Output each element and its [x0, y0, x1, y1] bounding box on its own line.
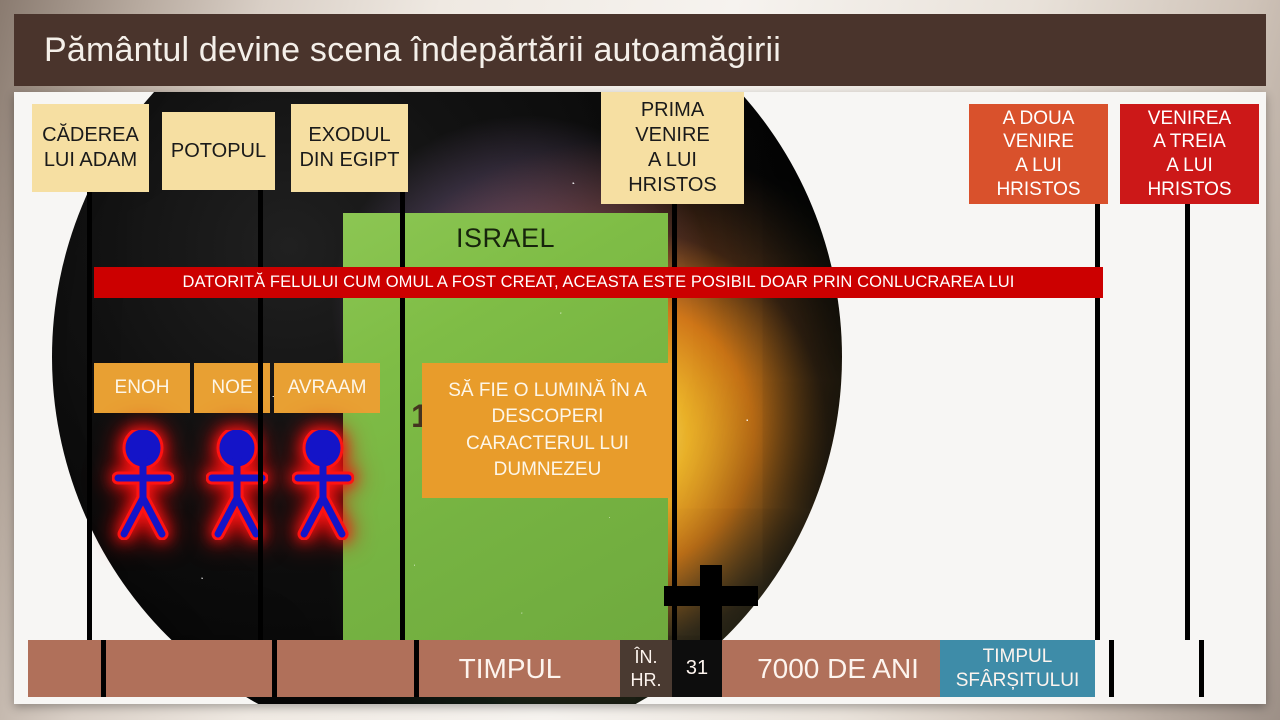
- bc-line-2: HR.: [631, 669, 662, 692]
- event-box-exodul-din-egipt[interactable]: EXODUL DIN EGIPT: [291, 104, 408, 192]
- cross-icon: [664, 565, 758, 643]
- person-icon-enoh: [112, 430, 174, 540]
- timeline-divider-venirea-a-treia: [1199, 640, 1204, 697]
- event-line-2: VENIRE: [635, 123, 709, 148]
- timeline-segment-bc: ÎN. HR.: [620, 640, 672, 697]
- patriarch-box-enoh[interactable]: ENOH: [94, 363, 190, 413]
- patriarch-label-avraam: AVRAAM: [288, 377, 367, 399]
- patriarch-box-avraam[interactable]: AVRAAM: [274, 363, 380, 413]
- end-time-line-1: TIMPUL: [983, 645, 1053, 669]
- event-box-potopul[interactable]: POTOPUL: [162, 112, 275, 190]
- year-marker-value: 31: [686, 657, 708, 680]
- event-box-prima-venire-a-lui-hristos[interactable]: PRIMA VENIRE A LUI HRISTOS: [601, 92, 744, 204]
- mission-line-1: SĂ FIE O LUMINĂ ÎN A: [448, 378, 647, 404]
- red-banner-text: DATORITĂ FELULUI CUM OMUL A FOST CREAT, …: [183, 273, 1015, 292]
- person-icon-avraam: [292, 430, 354, 540]
- page-title: Pământul devine scena îndepărtării autoa…: [14, 31, 781, 70]
- event-line-3: A LUI HRISTOS: [1126, 154, 1253, 201]
- event-line-1: CĂDEREA: [42, 123, 139, 148]
- event-line-3: A LUI HRISTOS: [975, 154, 1102, 201]
- israel-label: ISRAEL: [343, 213, 668, 254]
- event-line-2: A TREIA: [1153, 130, 1226, 154]
- timeline-segment-time: TIMPUL: [414, 640, 606, 697]
- event-box-a-doua-venire-a-lui-hristos[interactable]: A DOUA VENIRE A LUI HRISTOS: [969, 104, 1108, 204]
- timeline-divider-a-doua-venire: [1109, 640, 1114, 697]
- timeline-marker-potop: [258, 112, 263, 640]
- slide-canvas: ISRAEL 12 SEMINȚII SĂ FIE O LUMINĂ ÎN A …: [14, 92, 1266, 704]
- patriarch-label-noe: NOE: [211, 377, 252, 399]
- timeline-divider-potop: [272, 640, 277, 697]
- bc-line-1: ÎN.: [634, 646, 657, 669]
- timeline-years-label: 7000 DE ANI: [757, 653, 919, 685]
- patriarch-label-enoh: ENOH: [115, 377, 170, 399]
- timeline-year-marker: 31: [672, 640, 722, 697]
- event-line-1: POTOPUL: [171, 139, 266, 164]
- event-line-2: LUI ADAM: [44, 148, 137, 173]
- event-line-1: A DOUA: [1003, 107, 1075, 131]
- mission-line-3: CARACTERUL LUI: [466, 431, 629, 457]
- event-line-3: A LUI HRISTOS: [607, 148, 738, 198]
- end-time-line-2: SFÂRȘITULUI: [956, 669, 1080, 693]
- timeline-divider-adam: [101, 640, 106, 697]
- event-line-1: PRIMA: [641, 98, 704, 123]
- timeline-segment-7000-years: 7000 DE ANI: [728, 640, 948, 697]
- timeline-divider-exod: [414, 640, 419, 697]
- cross-horizontal: [664, 586, 758, 606]
- event-box-caderea-lui-adam[interactable]: CĂDEREA LUI ADAM: [32, 104, 149, 192]
- red-banner: DATORITĂ FELULUI CUM OMUL A FOST CREAT, …: [94, 267, 1103, 298]
- mission-line-4: DUMNEZEU: [494, 457, 602, 483]
- timeline-bar: TIMPUL ÎN. HR. 31 7000 DE ANI TIMPUL SFÂ…: [28, 640, 1094, 697]
- mission-line-2: DESCOPERI: [492, 404, 604, 430]
- event-line-1: EXODUL: [308, 123, 390, 148]
- event-box-venirea-a-treia-a-lui-hristos[interactable]: VENIREA A TREIA A LUI HRISTOS: [1120, 104, 1259, 204]
- event-line-1: VENIREA: [1148, 107, 1231, 131]
- title-bar: Pământul devine scena îndepărtării autoa…: [14, 14, 1266, 86]
- timeline-time-label: TIMPUL: [459, 653, 562, 685]
- timeline-segment-end-time: TIMPUL SFÂRȘITULUI: [940, 640, 1095, 697]
- event-line-2: VENIRE: [1003, 130, 1074, 154]
- slide-root: Pământul devine scena îndepărtării autoa…: [0, 0, 1280, 720]
- event-line-2: DIN EGIPT: [299, 148, 399, 173]
- mission-statement-box: SĂ FIE O LUMINĂ ÎN A DESCOPERI CARACTERU…: [422, 363, 673, 498]
